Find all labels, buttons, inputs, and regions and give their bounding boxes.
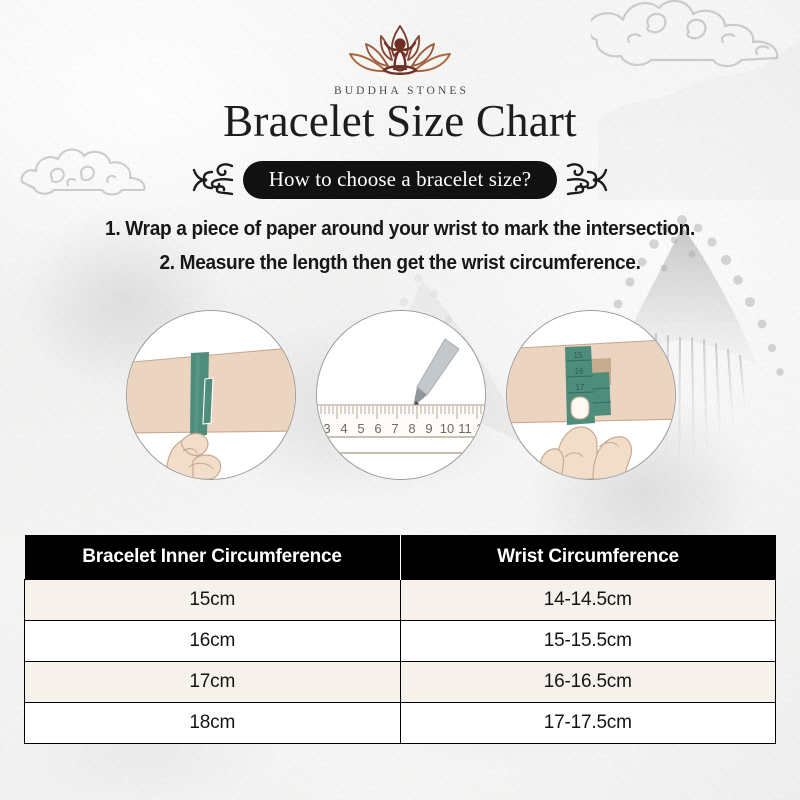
- size-chart-table: Bracelet Inner Circumference Wrist Circu…: [24, 535, 776, 744]
- ornamental-flourish-icon: [566, 160, 608, 200]
- cell-bracelet-size: 15cm: [25, 580, 401, 621]
- ruler-tick-label: 10: [440, 421, 454, 436]
- ruler-tick-label: 7: [391, 421, 398, 436]
- cell-wrist-size: 17-17.5cm: [400, 703, 776, 744]
- lotus-meditation-icon: [336, 22, 464, 84]
- brand-logo: BUDDHA STONES: [0, 22, 800, 97]
- question-banner: How to choose a bracelet size?: [0, 160, 800, 200]
- tape-number: 15: [574, 351, 583, 360]
- cell-bracelet-size: 16cm: [25, 621, 401, 662]
- cell-wrist-size: 14-14.5cm: [400, 580, 776, 621]
- tape-number: 17: [576, 383, 585, 392]
- instruction-step: 1. Wrap a piece of paper around your wri…: [28, 214, 772, 244]
- illustration-wrap-paper-around-wrist: [126, 310, 296, 480]
- cell-wrist-size: 16-16.5cm: [400, 662, 776, 703]
- table-row: 18cm 17-17.5cm: [25, 703, 776, 744]
- column-header-bracelet-inner-circumference: Bracelet Inner Circumference: [25, 535, 401, 580]
- illustration-read-wrist-circumference: 15 16 17: [506, 310, 676, 480]
- measuring-tape-on-wrist-icon: 15 16 17: [507, 311, 675, 479]
- ruler-tick-label: 5: [357, 421, 364, 436]
- page-title: Bracelet Size Chart: [0, 96, 800, 146]
- ruler-tick-label: 6: [374, 421, 381, 436]
- wrist-with-paper-strip-icon: [127, 311, 295, 479]
- table-row: 17cm 16-16.5cm: [25, 662, 776, 703]
- ruler-tick-label: 8: [408, 421, 415, 436]
- cell-bracelet-size: 18cm: [25, 703, 401, 744]
- instruction-step: 2. Measure the length then get the wrist…: [28, 248, 772, 278]
- ornamental-flourish-icon: [192, 160, 234, 200]
- question-pill: How to choose a bracelet size?: [243, 161, 557, 199]
- illustration-row: 3 4 5 6 7 8 9 10 11 12: [0, 310, 800, 485]
- ruler-tick-label: 4: [340, 421, 347, 436]
- size-chart-page: BUDDHA STONES Bracelet Size Chart How to…: [0, 0, 800, 800]
- column-header-wrist-circumference: Wrist Circumference: [400, 535, 776, 580]
- instruction-list: 1. Wrap a piece of paper around your wri…: [0, 214, 800, 278]
- ruler-tick-label: 3: [323, 421, 330, 436]
- cell-wrist-size: 15-15.5cm: [400, 621, 776, 662]
- illustration-measure-with-ruler: 3 4 5 6 7 8 9 10 11 12: [316, 310, 486, 480]
- ruler-tick-label: 11: [458, 421, 472, 436]
- tape-number: 16: [575, 367, 584, 376]
- cell-bracelet-size: 17cm: [25, 662, 401, 703]
- ruler-and-pencil-icon: 3 4 5 6 7 8 9 10 11 12: [317, 311, 485, 479]
- ruler-tick-label: 12: [476, 421, 485, 436]
- table-row: 16cm 15-15.5cm: [25, 621, 776, 662]
- ruler-tick-label: 9: [425, 421, 432, 436]
- table-header-row: Bracelet Inner Circumference Wrist Circu…: [25, 535, 776, 580]
- table-row: 15cm 14-14.5cm: [25, 580, 776, 621]
